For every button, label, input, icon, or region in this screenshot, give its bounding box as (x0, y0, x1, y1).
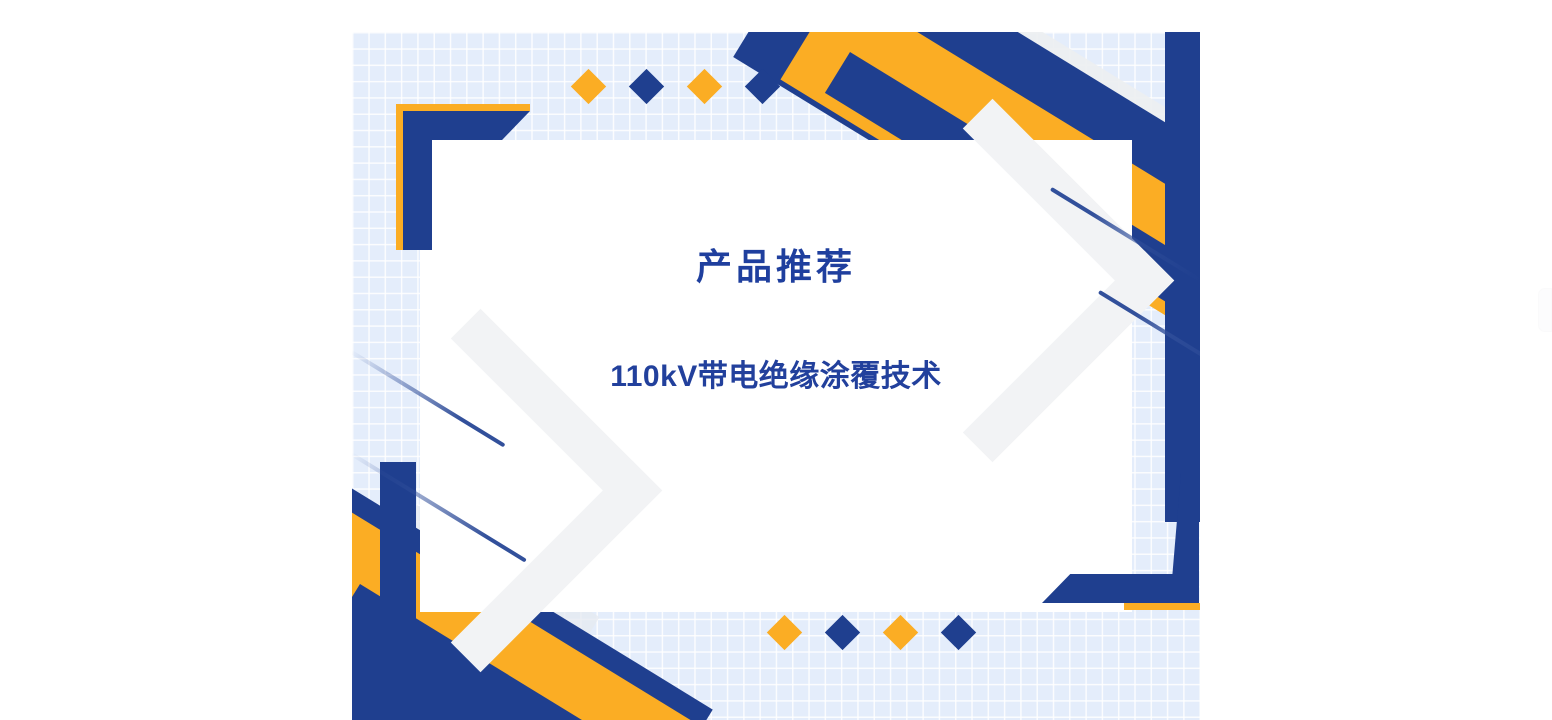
app-root: 产品推荐 110kV带电绝缘涂覆技术 (0, 0, 1552, 720)
slide-subtitle: 110kV带电绝缘涂覆技术 (420, 357, 1132, 396)
diamond-row-bottom (772, 620, 971, 645)
diamond-row-top (576, 74, 775, 99)
slide-heading: 产品推荐 (420, 244, 1132, 289)
diamond-blue-4 (941, 615, 976, 650)
diamond-orange-2 (687, 69, 722, 104)
diamond-blue-1 (629, 69, 664, 104)
diamond-blue-3 (825, 615, 860, 650)
presentation-slide[interactable]: 产品推荐 110kV带电绝缘涂覆技术 (352, 32, 1200, 720)
right-edge-panel-sliver[interactable] (1538, 288, 1552, 332)
diamond-blue-2 (745, 69, 780, 104)
diamond-orange-3 (767, 615, 802, 650)
diamond-orange-4 (883, 615, 918, 650)
diamond-orange-1 (571, 69, 606, 104)
slide-text-block: 产品推荐 110kV带电绝缘涂覆技术 (420, 244, 1132, 396)
